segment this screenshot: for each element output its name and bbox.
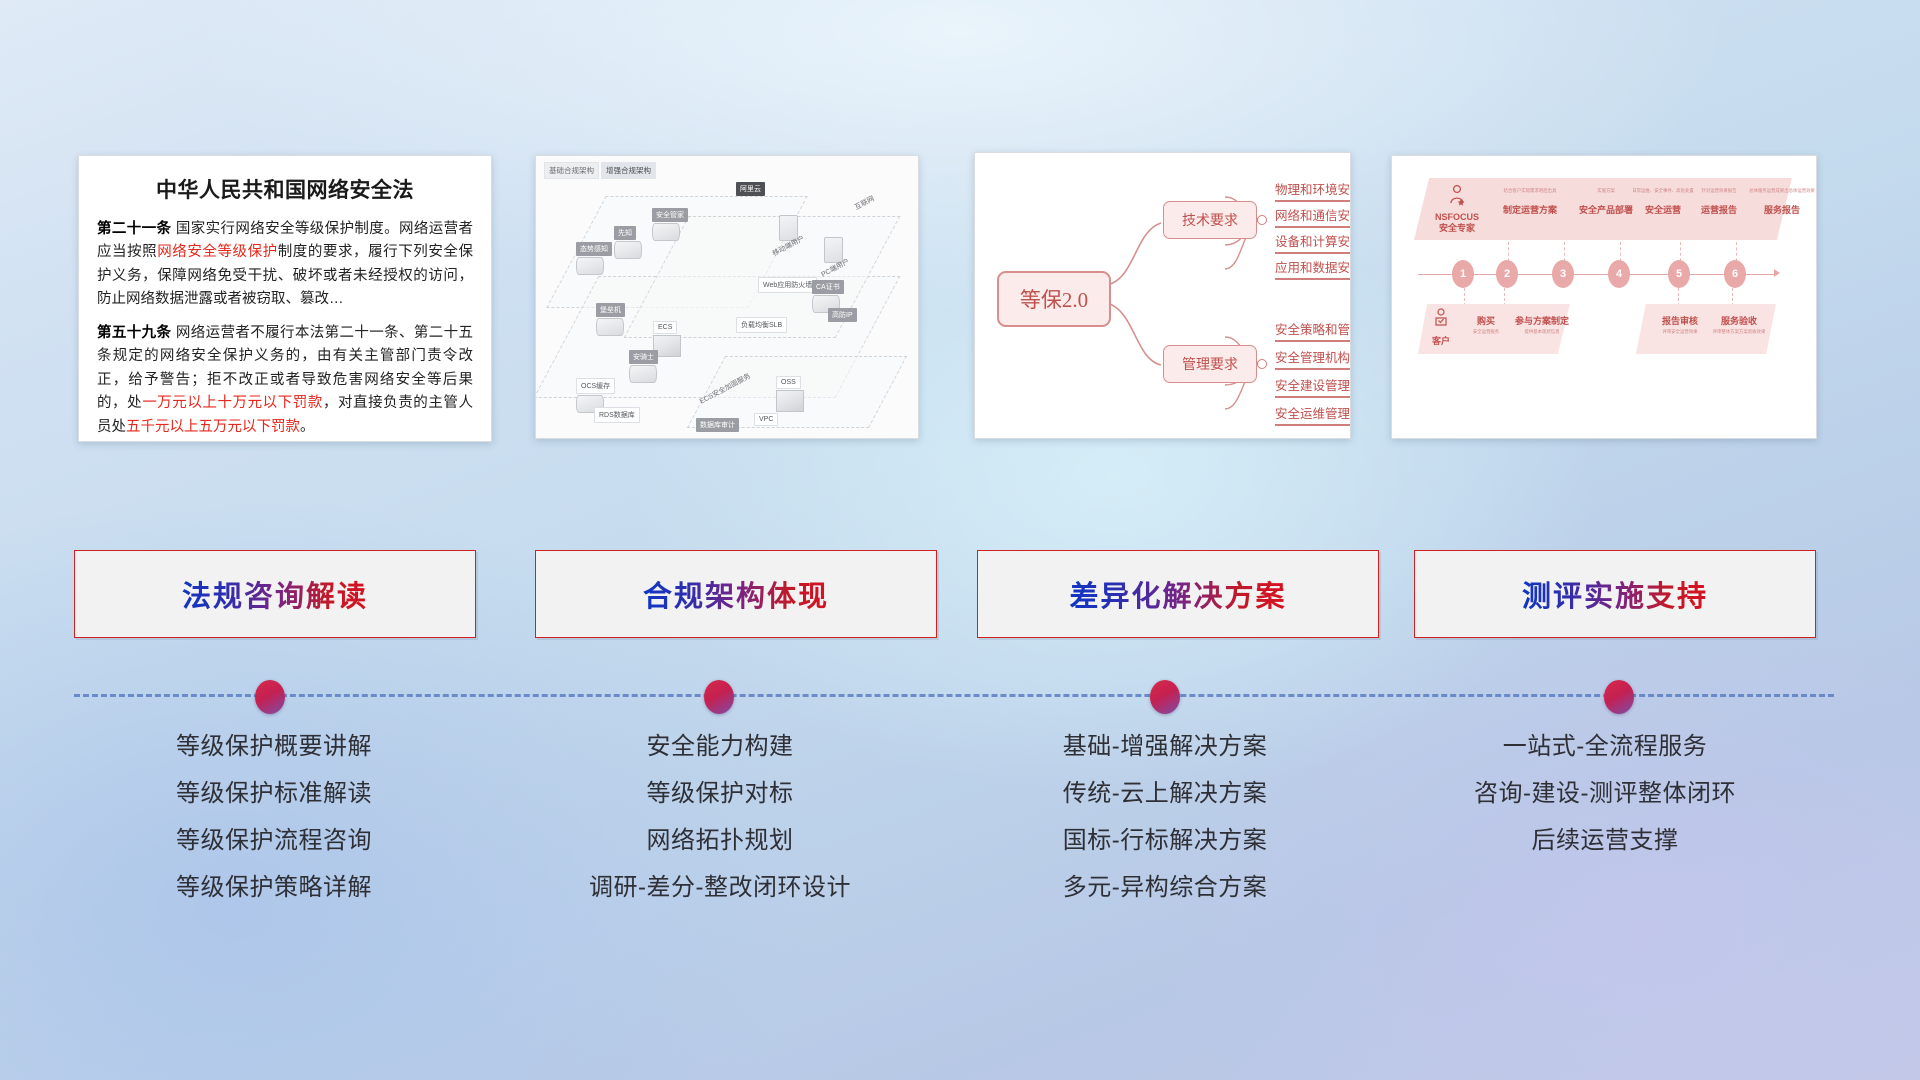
- list-item: 等级保护策略详解: [64, 876, 484, 900]
- section-items-3: 基础-增强解决方案 传统-云上解决方案 国标-行标解决方案 多元-异构综合方案: [955, 735, 1375, 923]
- section-items-1: 等级保护概要讲解 等级保护标准解读 等级保护流程咨询 等级保护策略详解: [64, 735, 484, 923]
- section-title-label: 法规咨询解读: [182, 573, 368, 615]
- timeline-dot-4[interactable]: [1604, 680, 1634, 714]
- section-title-label: 合规架构体现: [643, 573, 829, 615]
- list-item: 基础-增强解决方案: [955, 735, 1375, 759]
- list-item: 咨询-建设-测评整体闭环: [1395, 782, 1815, 806]
- section-title-label: 测评实施支持: [1522, 573, 1708, 615]
- slide-canvas: 中华人民共和国网络安全法 第二十一条 国家实行网络安全等级保护制度。网络运营者应…: [0, 0, 1920, 1080]
- list-item: 后续运营支撑: [1395, 829, 1815, 853]
- section-title-box-1[interactable]: 法规咨询解读: [74, 550, 476, 638]
- section-title-box-4[interactable]: 测评实施支持: [1414, 550, 1816, 638]
- list-item: 国标-行标解决方案: [955, 829, 1375, 853]
- list-item: 等级保护概要讲解: [64, 735, 484, 759]
- list-item: 等级保护对标: [510, 782, 930, 806]
- list-item: 等级保护标准解读: [64, 782, 484, 806]
- list-item: 一站式-全流程服务: [1395, 735, 1815, 759]
- section-items-2: 安全能力构建 等级保护对标 网络拓扑规划 调研-差分-整改闭环设计: [510, 735, 930, 923]
- section-items-4: 一站式-全流程服务 咨询-建设-测评整体闭环 后续运营支撑: [1395, 735, 1815, 876]
- timeline-track: [74, 694, 1834, 701]
- list-item: 调研-差分-整改闭环设计: [510, 876, 930, 900]
- list-item: 安全能力构建: [510, 735, 930, 759]
- timeline-dot-2[interactable]: [704, 680, 734, 714]
- section-title-box-3[interactable]: 差异化解决方案: [977, 550, 1379, 638]
- section-title-label: 差异化解决方案: [1069, 573, 1286, 615]
- section-title-box-2[interactable]: 合规架构体现: [535, 550, 937, 638]
- list-item: 传统-云上解决方案: [955, 782, 1375, 806]
- list-item: 网络拓扑规划: [510, 829, 930, 853]
- list-item: 多元-异构综合方案: [955, 876, 1375, 900]
- timeline-dot-3[interactable]: [1150, 680, 1180, 714]
- list-item: 等级保护流程咨询: [64, 829, 484, 853]
- timeline-dot-1[interactable]: [255, 680, 285, 714]
